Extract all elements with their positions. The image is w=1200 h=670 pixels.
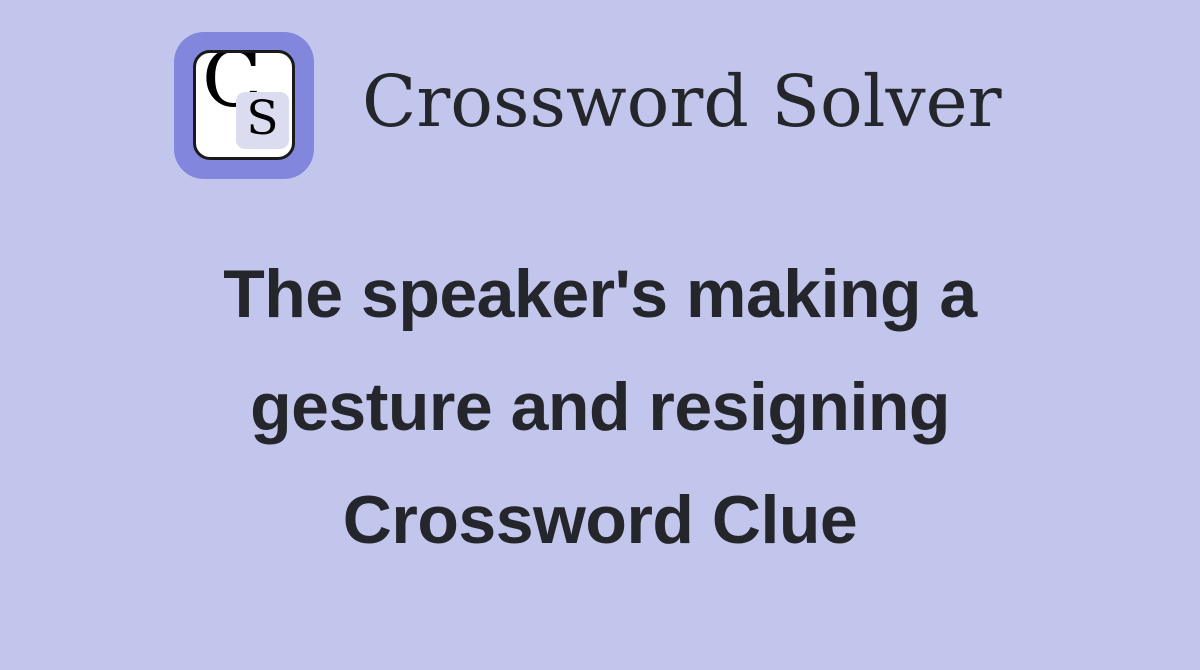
- brand-home-link[interactable]: C S Crossword Solver: [174, 32, 1002, 179]
- logo-letter-s: S: [236, 92, 289, 149]
- logo-letter-s-tile: S: [236, 92, 289, 149]
- page-root: C S Crossword Solver The speaker's makin…: [0, 0, 1200, 670]
- brand-name: Crossword Solver: [362, 66, 1002, 145]
- page-title: The speaker's making a gesture and resig…: [0, 238, 1200, 577]
- crossword-solver-logo-icon: C S: [174, 32, 314, 179]
- site-header: C S Crossword Solver: [0, 0, 1200, 210]
- logo-inner-card: C S: [193, 50, 295, 160]
